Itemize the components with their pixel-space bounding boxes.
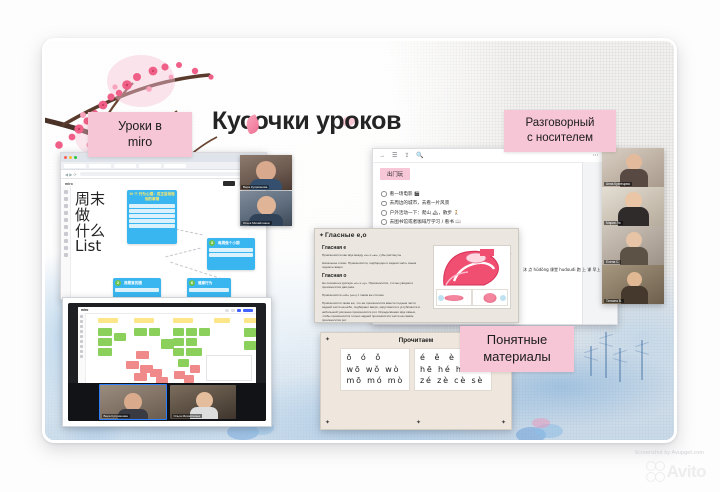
miro-minimap[interactable] — [206, 355, 252, 381]
handwritten-hanzi: 周末 做 什么 List — [75, 192, 127, 255]
sticky-note[interactable] — [173, 348, 184, 356]
participant-name: Елена С. — [604, 260, 621, 264]
lip-shape-e — [436, 289, 472, 306]
sticky-note[interactable] — [114, 333, 126, 341]
column-header[interactable] — [98, 318, 118, 323]
participant-name: Вера Куприянова — [241, 185, 269, 189]
browser-address-bar[interactable]: ◀ ▶ ⟳ — [61, 170, 266, 179]
label-lessons-in-miro: Уроки в miro — [88, 112, 192, 157]
webcam-tile[interactable]: Ольга Михайловна — [240, 191, 292, 226]
sticky-note[interactable] — [186, 328, 197, 336]
tree-silhouette — [619, 348, 621, 382]
section-heading: Гласная e — [322, 245, 422, 251]
checkbox-icon[interactable] — [381, 210, 387, 216]
zoom-session-screenshot[interactable]: miro — [62, 297, 272, 427]
screenshot-root: Кусочки уроков ◀ ▶ ⟳ miro — [0, 0, 720, 492]
miro-tool-rail[interactable] — [78, 313, 86, 385]
search-icon[interactable]: 🔍 — [416, 152, 423, 159]
video-participants-column[interactable]: Анна Кузнецова Мария Ли Елена С. Татьяна… — [602, 148, 664, 304]
pinyin-table-o: ō ó ǒ wō wǒ wò mō mó mò — [340, 348, 410, 391]
avito-watermark: Avito — [646, 461, 706, 482]
tree-silhouette — [590, 346, 592, 376]
note-number-badge: 2 — [115, 280, 121, 286]
note-number-badge: 6 — [189, 280, 195, 286]
checkbox-icon[interactable] — [381, 201, 387, 207]
sticky-note[interactable] — [98, 348, 112, 356]
avito-wordmark: Avito — [667, 462, 706, 482]
sticky-note[interactable] — [186, 338, 197, 346]
pinyin-row: wō wǒ wò — [346, 364, 404, 376]
sticky-note[interactable] — [150, 369, 162, 377]
list-icon[interactable]: ☰ — [392, 152, 397, 159]
sticky-note[interactable] — [98, 328, 112, 336]
plus-icon[interactable]: ✦ — [325, 419, 330, 426]
section-heading: Гласная o — [322, 273, 422, 279]
plus-icon[interactable]: ✦ — [325, 336, 330, 343]
zoom-participant-tile[interactable]: Ольга Михайловна — [170, 385, 236, 419]
sticky-note[interactable] — [126, 361, 139, 369]
sticky-note[interactable] — [190, 365, 200, 373]
miro-sticky-note[interactable]: 10 个 行为心理：成正层易做到的事情 — [127, 190, 177, 244]
section-paragraph: Не похожа на русскую «о» и «у». Произнос… — [322, 281, 422, 290]
column-header[interactable] — [244, 318, 256, 323]
participant-name: Мария Ли — [604, 221, 623, 225]
sticky-note[interactable] — [244, 341, 256, 350]
participant-name: Ольга Михайловна — [172, 414, 203, 418]
column-header[interactable] — [134, 318, 154, 323]
tree-silhouette — [641, 340, 643, 380]
vowels-text-column: Гласная e Произносится как звук между «э… — [322, 245, 422, 323]
section-paragraph: Произносится такая же, что же произносит… — [322, 301, 422, 323]
section-paragraph: Произносится «uō» («о») с таким же стиле… — [322, 293, 422, 297]
sticky-note[interactable] — [161, 339, 174, 349]
sticky-note[interactable] — [173, 328, 184, 336]
tree-silhouette — [605, 332, 607, 378]
miro-board-screenshot[interactable]: ◀ ▶ ⟳ miro 周末 做 什么 List 10 — [60, 152, 267, 300]
video-tile[interactable]: Татьяна В. — [602, 265, 664, 304]
avito-dots-icon — [646, 461, 663, 482]
sticky-note[interactable] — [136, 351, 149, 359]
label-speaking-with-native: Разговорный с носителем — [504, 110, 616, 152]
sticky-note[interactable] — [184, 375, 194, 383]
sticky-note[interactable] — [186, 348, 202, 356]
column-header[interactable] — [214, 318, 230, 323]
sticky-note[interactable] — [149, 328, 160, 336]
plus-icon[interactable]: ✦ — [501, 419, 506, 426]
miro-board-shared[interactable]: miro — [78, 307, 256, 385]
pinyin-row: ō ó ǒ — [346, 352, 404, 364]
participant-name: Татьяна В. — [604, 299, 624, 303]
document-highlight-heading: 出门玩 — [380, 168, 410, 180]
miro-toolbar[interactable]: miro — [78, 307, 256, 314]
label-clear-materials: Понятные материалы — [460, 326, 574, 372]
checkbox-icon[interactable] — [381, 191, 387, 197]
plus-icon[interactable]: ✦ — [319, 232, 324, 239]
pinyin-row: mō mó mò — [346, 375, 404, 387]
watermark-credit: Screenshot by Avupget.com — [634, 450, 704, 456]
vowels-panel-header: Гласные e,o — [315, 229, 518, 241]
mouth-anatomy-icon — [436, 247, 508, 287]
miro-logo: miro — [81, 308, 88, 312]
miro-tool-rail[interactable] — [61, 186, 71, 299]
plus-icon[interactable]: ✦ — [416, 419, 421, 426]
lotus-illustration — [515, 413, 571, 443]
video-tile[interactable]: Мария Ли — [602, 187, 664, 226]
miro-logo: miro — [65, 182, 73, 186]
sticky-note[interactable] — [134, 328, 147, 336]
sticky-note[interactable] — [199, 328, 210, 336]
miro-canvas[interactable]: 周末 做 什么 List 10 个 行为心理：成正层易做到的事情 3 每周做个小… — [61, 186, 266, 299]
vowels-panel[interactable]: ✦ ✦ Гласные e,o Гласная e Произносится к… — [314, 228, 519, 323]
browser-tabstrip[interactable] — [61, 162, 266, 170]
lip-shape-examples — [436, 289, 508, 306]
back-arrow-icon[interactable]: → — [379, 153, 385, 159]
share-icon[interactable]: ⇪ — [404, 152, 409, 159]
sticky-note[interactable] — [178, 359, 189, 367]
checkbox-icon[interactable] — [381, 219, 387, 225]
participant-name: Анна Кузнецова — [604, 182, 632, 186]
participant-name: Вера Куприянова — [102, 414, 130, 418]
video-tile[interactable]: Елена С. — [602, 226, 664, 265]
more-icon[interactable]: ⋯ — [593, 152, 599, 159]
zoom-window: miro — [68, 303, 266, 421]
pinyin-row: zé zè cè sè — [420, 375, 485, 387]
section-paragraph: Произносится как звук между «э» и «ы», г… — [322, 253, 422, 257]
pronunciation-diagram — [433, 245, 511, 309]
sticky-note[interactable] — [244, 328, 256, 337]
sticky-note[interactable] — [134, 373, 147, 381]
miro-sticky-note[interactable]: 3 每周做个小期 — [207, 238, 255, 270]
zoom-participant-tile[interactable]: Вера Куприянова — [99, 384, 167, 420]
lip-shape-o — [472, 289, 508, 306]
webcam-tile[interactable]: Вера Куприянова — [240, 155, 292, 190]
note-number-badge: 3 — [209, 240, 215, 246]
column-header[interactable] — [173, 318, 193, 323]
participant-name: Ольга Михайловна — [241, 221, 272, 225]
sticky-note[interactable] — [98, 338, 112, 346]
zoom-participant-strip: Вера Куприянова Ольга Михайловна — [68, 383, 266, 421]
sticky-note[interactable] — [173, 338, 184, 346]
video-tile[interactable]: Анна Кузнецова — [602, 148, 664, 187]
page-title: Кусочки уроков — [212, 107, 401, 136]
section-paragraph: Начальное слово. Произносится, подбородо… — [322, 261, 422, 270]
